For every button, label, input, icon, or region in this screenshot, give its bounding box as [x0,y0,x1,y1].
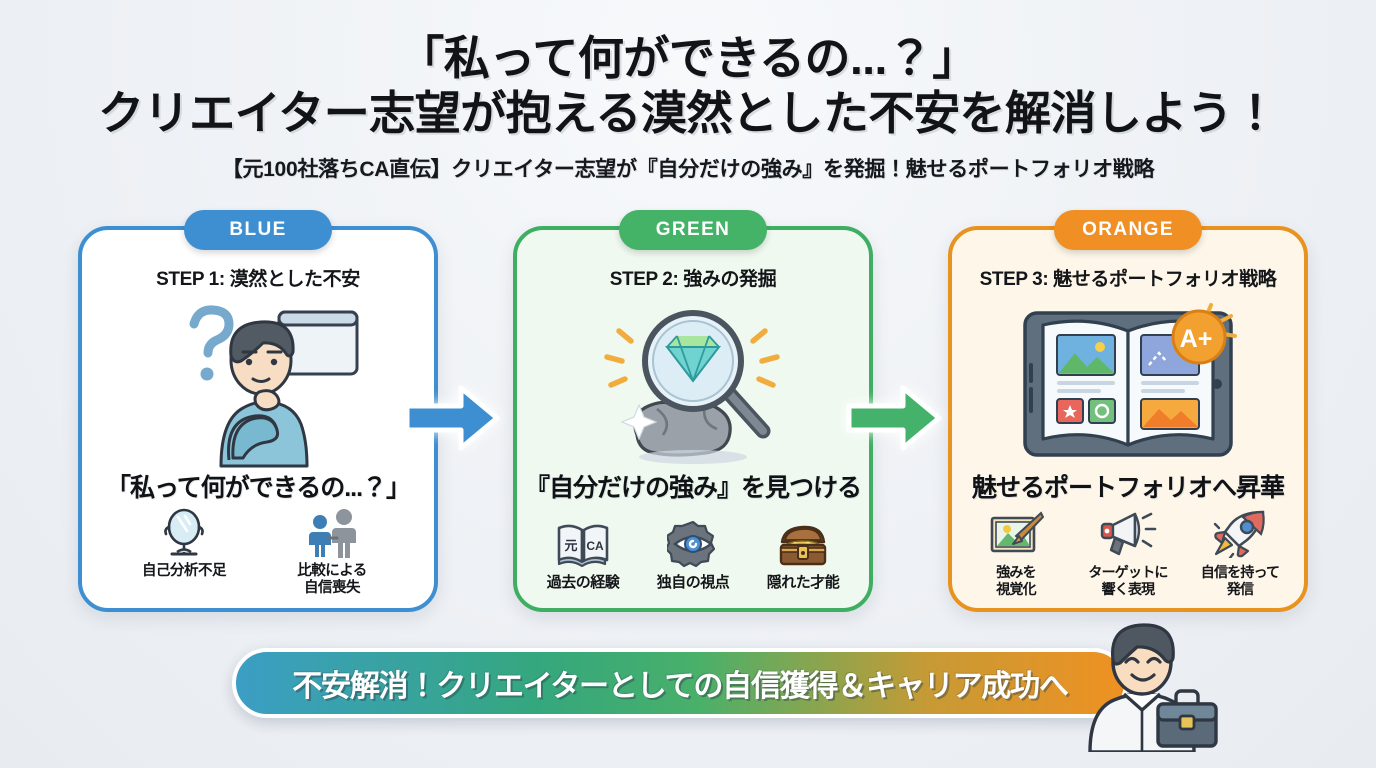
two-people-comparison-icon [302,506,362,560]
footer-banner-text: 不安解消！クリエイターとしての自信獲得＆キャリア成功へ [292,661,1068,705]
step-badge-green: GREEN [619,210,767,250]
illustration-thinking-person [82,298,434,470]
mini-caption: 自己分析不足 [142,563,226,581]
mascot-businessman [1072,620,1222,752]
step-badge-orange: ORANGE [1054,210,1202,250]
step-card-2[interactable]: GREEN STEP 2: 強みの発掘 [513,226,873,612]
picture-brush-icon [988,507,1044,561]
step-title-3: STEP 3: 魅せるポートフォリオ戦略 [952,264,1304,291]
title-line-1: 「私って何ができるの...？」 [0,32,1376,85]
mini-caption: ターゲットに 響く表現 [1088,564,1167,598]
step-title-2: STEP 2: 強みの発掘 [517,264,869,291]
subtitle: 【元100社落ちCA直伝】クリエイター志望が『自分だけの強み』を発掘！魅せるポー… [0,153,1376,183]
footer-banner[interactable]: 不安解消！クリエイターとしての自信獲得＆キャリア成功へ [232,648,1128,718]
mini-item-visualize-strength[interactable]: 強みを 視覚化 [962,507,1070,598]
open-book-icon: 元 CA [555,517,611,571]
header: 「私って何ができるの...？」 クリエイター志望が抱える漠然とした不安を解消しよ… [0,32,1376,183]
card-headline-2: 『自分だけの強み』を見つける [517,468,869,504]
thinking-person-icon [133,300,383,468]
rocket-icon [1213,507,1267,561]
mirror-icon [158,506,210,560]
mini-item-target-expression[interactable]: ターゲットに 響く表現 [1074,507,1182,598]
mini-row-2: 元 CA 過去の経験 独自の視点 [517,517,869,592]
mini-item-hidden-talent[interactable]: 隠れた才能 [751,517,855,592]
mini-item-confident-output[interactable]: 自信を持って 発信 [1186,507,1294,598]
mini-caption: 隠れた才能 [767,574,840,592]
footer-banner-wrap: 不安解消！クリエイターとしての自信獲得＆キャリア成功へ [232,648,1128,718]
megaphone-icon [1099,507,1157,561]
card-headline-3: 魅せるポートフォリオへ昇華 [952,468,1304,504]
steps-row: BLUE STEP 1: 漠然とした不安 [0,226,1376,616]
step-title-1: STEP 1: 漠然とした不安 [82,264,434,291]
eye-gear-icon [667,517,719,571]
magnifier-diamond-rock-icon [575,299,811,469]
step-badge-blue: BLUE [184,210,332,250]
title-line-2: クリエイター志望が抱える漠然とした不安を解消しよう！ [0,87,1376,140]
infographic-canvas: 「私って何ができるの...？」 クリエイター志望が抱える漠然とした不安を解消しよ… [0,0,1376,768]
mini-caption: 比較による 自信喪失 [297,563,367,598]
book-right-label: CA [586,539,604,553]
mini-item-unique-view[interactable]: 独自の視点 [641,517,745,592]
mini-row-3: 強みを 視覚化 [952,507,1304,598]
mini-row-1: 自己分析不足 比較による 自信喪失 [82,506,434,598]
illustration-portfolio-book: A+ [952,298,1304,470]
mini-item-past-experience[interactable]: 元 CA 過去の経験 [531,517,635,592]
mini-item-comparison[interactable]: 比較による 自信喪失 [272,506,392,598]
mini-caption: 過去の経験 [547,574,620,592]
portfolio-tablet-book-icon: A+ [1003,299,1253,469]
mini-caption: 強みを 視覚化 [996,564,1036,598]
arrow-step1-to-step2 [403,382,501,454]
businessman-with-briefcase-icon [1072,620,1222,752]
book-left-label: 元 [564,538,577,553]
mini-caption: 独自の視点 [657,574,730,592]
a-plus-badge-label: A+ [1180,325,1213,353]
step-card-3[interactable]: ORANGE STEP 3: 魅せるポートフォリオ戦略 [948,226,1308,612]
illustration-magnifier-diamond [517,298,869,470]
mini-item-self-analysis[interactable]: 自己分析不足 [124,506,244,581]
mini-caption: 自信を持って 発信 [1201,564,1280,598]
arrow-step2-to-step3 [845,382,943,454]
step-card-1[interactable]: BLUE STEP 1: 漠然とした不安 [78,226,438,612]
treasure-chest-icon [775,517,831,571]
card-headline-1: 「私って何ができるの...？」 [82,468,434,504]
